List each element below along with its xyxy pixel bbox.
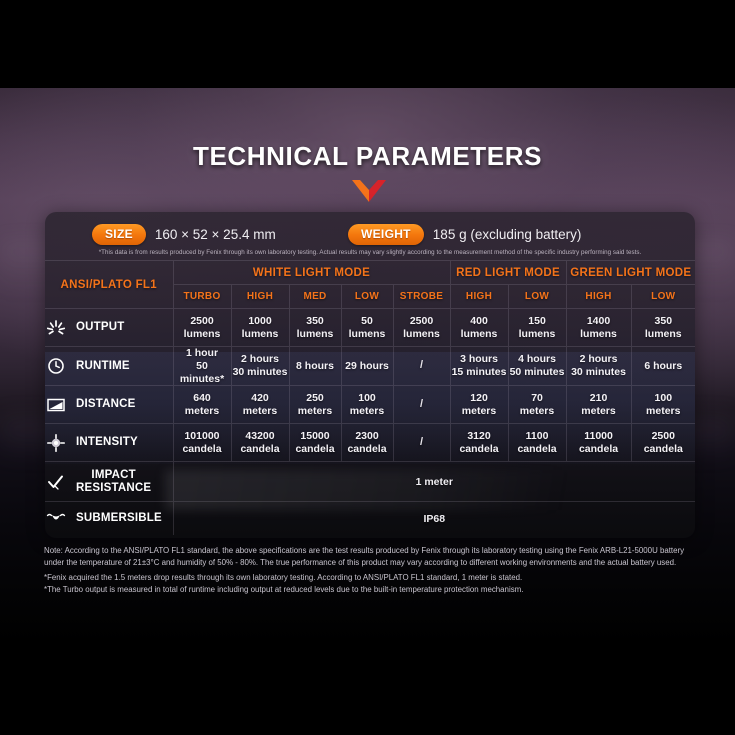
footnotes: Note: According to the ANSI/PLATO FL1 st… (44, 545, 699, 596)
cell-output-green-high: 1400lumens (566, 309, 631, 347)
specifications-table: ANSI/PLATO FL1 WHITE LIGHT MODE RED LIGH… (45, 260, 695, 535)
row-label-text: OUTPUT (76, 321, 124, 334)
light-burst-icon (45, 318, 67, 338)
cell-distance-red-high: 120meters (450, 386, 508, 424)
cell-intensity-green-low: 2500candela (631, 424, 695, 462)
size-value: 160 × 52 × 25.4 mm (155, 227, 276, 242)
mode-header-red-low: LOW (508, 285, 566, 309)
row-label-distance: DISTANCE (45, 386, 173, 424)
cell-runtime-red-high: 3 hours15 minutes (450, 347, 508, 386)
row-label-text: DISTANCE (76, 398, 136, 411)
cell-output-white-high: 1000lumens (231, 309, 289, 347)
cell-distance-green-low: 100meters (631, 386, 695, 424)
cell-output-turbo: 2500lumens (173, 309, 231, 347)
row-label-output: OUTPUT (45, 309, 173, 347)
cell-distance-white-med: 250meters (289, 386, 341, 424)
cell-intensity-red-high: 3120candela (450, 424, 508, 462)
cell-runtime-green-high: 2 hours30 minutes (566, 347, 631, 386)
crosshair-intensity-icon (45, 433, 67, 453)
size-weight-strip: SIZE160 × 52 × 25.4 mm WEIGHT185 g (excl… (45, 212, 695, 260)
footnote-standard: Note: According to the ANSI/PLATO FL1 st… (44, 545, 699, 570)
row-label-runtime: RUNTIME (45, 347, 173, 386)
group-header-white: WHITE LIGHT MODE (173, 261, 450, 285)
letterbox-top (0, 0, 735, 88)
footnote-turbo: *The Turbo output is measured in total o… (44, 584, 699, 596)
row-label-text: RUNTIME (76, 360, 130, 373)
mode-header-white-med: MED (289, 285, 341, 309)
cell-submersible-value: IP68 (173, 502, 695, 536)
cell-intensity-red-low: 1100candela (508, 424, 566, 462)
row-label-impact-resistance: IMPACTRESISTANCE (45, 462, 173, 502)
weight-value: 185 g (excluding battery) (433, 227, 582, 242)
group-header-green: GREEN LIGHT MODE (566, 261, 695, 285)
cell-intensity-white-med: 15000candela (289, 424, 341, 462)
table-row-intensity: INTENSITY 101000candela 43200candela 150… (45, 424, 695, 462)
mode-header-red-high: HIGH (450, 285, 508, 309)
table-group-header-row: ANSI/PLATO FL1 WHITE LIGHT MODE RED LIGH… (45, 261, 695, 285)
standard-label: ANSI/PLATO FL1 (45, 261, 173, 309)
cell-output-red-low: 150lumens (508, 309, 566, 347)
footnote-drop-test: *Fenix acquired the 1.5 meters drop resu… (44, 572, 699, 584)
cell-output-white-med: 350lumens (289, 309, 341, 347)
weight-badge: WEIGHT (348, 224, 424, 245)
chevron-down-icon (352, 180, 386, 204)
size-badge: SIZE (92, 224, 146, 245)
row-label-text: INTENSITY (76, 436, 138, 449)
cell-distance-white-low: 100meters (341, 386, 393, 424)
beam-distance-icon (45, 395, 67, 415)
cell-output-white-low: 50lumens (341, 309, 393, 347)
cell-distance-turbo: 640meters (173, 386, 231, 424)
table-row-runtime: RUNTIME 1 hour50 minutes* 2 hours30 minu… (45, 347, 695, 386)
cell-intensity-white-low: 2300candela (341, 424, 393, 462)
impact-hammer-icon (45, 472, 67, 492)
cell-output-green-low: 350lumens (631, 309, 695, 347)
page-title: TECHNICAL PARAMETERS (0, 141, 735, 172)
cell-runtime-red-low: 4 hours50 minutes (508, 347, 566, 386)
row-label-submersible: SUBMERSIBLE (45, 502, 173, 536)
weight-group: WEIGHT185 g (excluding battery) (348, 224, 581, 245)
row-label-intensity: INTENSITY (45, 424, 173, 462)
table-row-output: OUTPUT 2500lumens 1000lumens 350lumens 5… (45, 309, 695, 347)
size-group: SIZE160 × 52 × 25.4 mm (92, 224, 276, 245)
cell-runtime-turbo: 1 hour50 minutes* (173, 347, 231, 386)
row-label-text: SUBMERSIBLE (76, 512, 162, 525)
mode-header-white-high: HIGH (231, 285, 289, 309)
group-header-red: RED LIGHT MODE (450, 261, 566, 285)
cell-distance-white-high: 420meters (231, 386, 289, 424)
mode-header-white-low: LOW (341, 285, 393, 309)
poster-stage: TECHNICAL PARAMETERS SIZE160 × 52 × 25.4… (0, 0, 735, 735)
cell-runtime-green-low: 6 hours (631, 347, 695, 386)
letterbox-bottom (0, 645, 735, 735)
spec-disclaimer: *This data is from results produced by F… (45, 249, 695, 256)
cell-intensity-white-high: 43200candela (231, 424, 289, 462)
table-row-submersible: SUBMERSIBLE IP68 (45, 502, 695, 536)
mode-header-green-low: LOW (631, 285, 695, 309)
cell-output-strobe: 2500lumens (393, 309, 450, 347)
row-label-text: IMPACTRESISTANCE (76, 469, 151, 495)
spec-card: SIZE160 × 52 × 25.4 mm WEIGHT185 g (excl… (45, 212, 695, 538)
cell-impact-resistance-value: 1 meter (173, 462, 695, 502)
mode-header-green-high: HIGH (566, 285, 631, 309)
cell-runtime-white-low: 29 hours (341, 347, 393, 386)
cell-distance-green-high: 210meters (566, 386, 631, 424)
cell-intensity-strobe: / (393, 424, 450, 462)
cell-runtime-white-med: 8 hours (289, 347, 341, 386)
cell-distance-red-low: 70meters (508, 386, 566, 424)
water-drop-icon (45, 509, 67, 529)
cell-intensity-green-high: 11000candela (566, 424, 631, 462)
cell-output-red-high: 400lumens (450, 309, 508, 347)
table-row-distance: DISTANCE 640meters 420meters 250meters 1… (45, 386, 695, 424)
cell-runtime-strobe: / (393, 347, 450, 386)
cell-distance-strobe: / (393, 386, 450, 424)
cell-runtime-white-high: 2 hours30 minutes (231, 347, 289, 386)
mode-header-strobe: STROBE (393, 285, 450, 309)
table-row-impact-resistance: IMPACTRESISTANCE 1 meter (45, 462, 695, 502)
cell-intensity-turbo: 101000candela (173, 424, 231, 462)
clock-icon (45, 356, 67, 376)
mode-header-turbo: TURBO (173, 285, 231, 309)
